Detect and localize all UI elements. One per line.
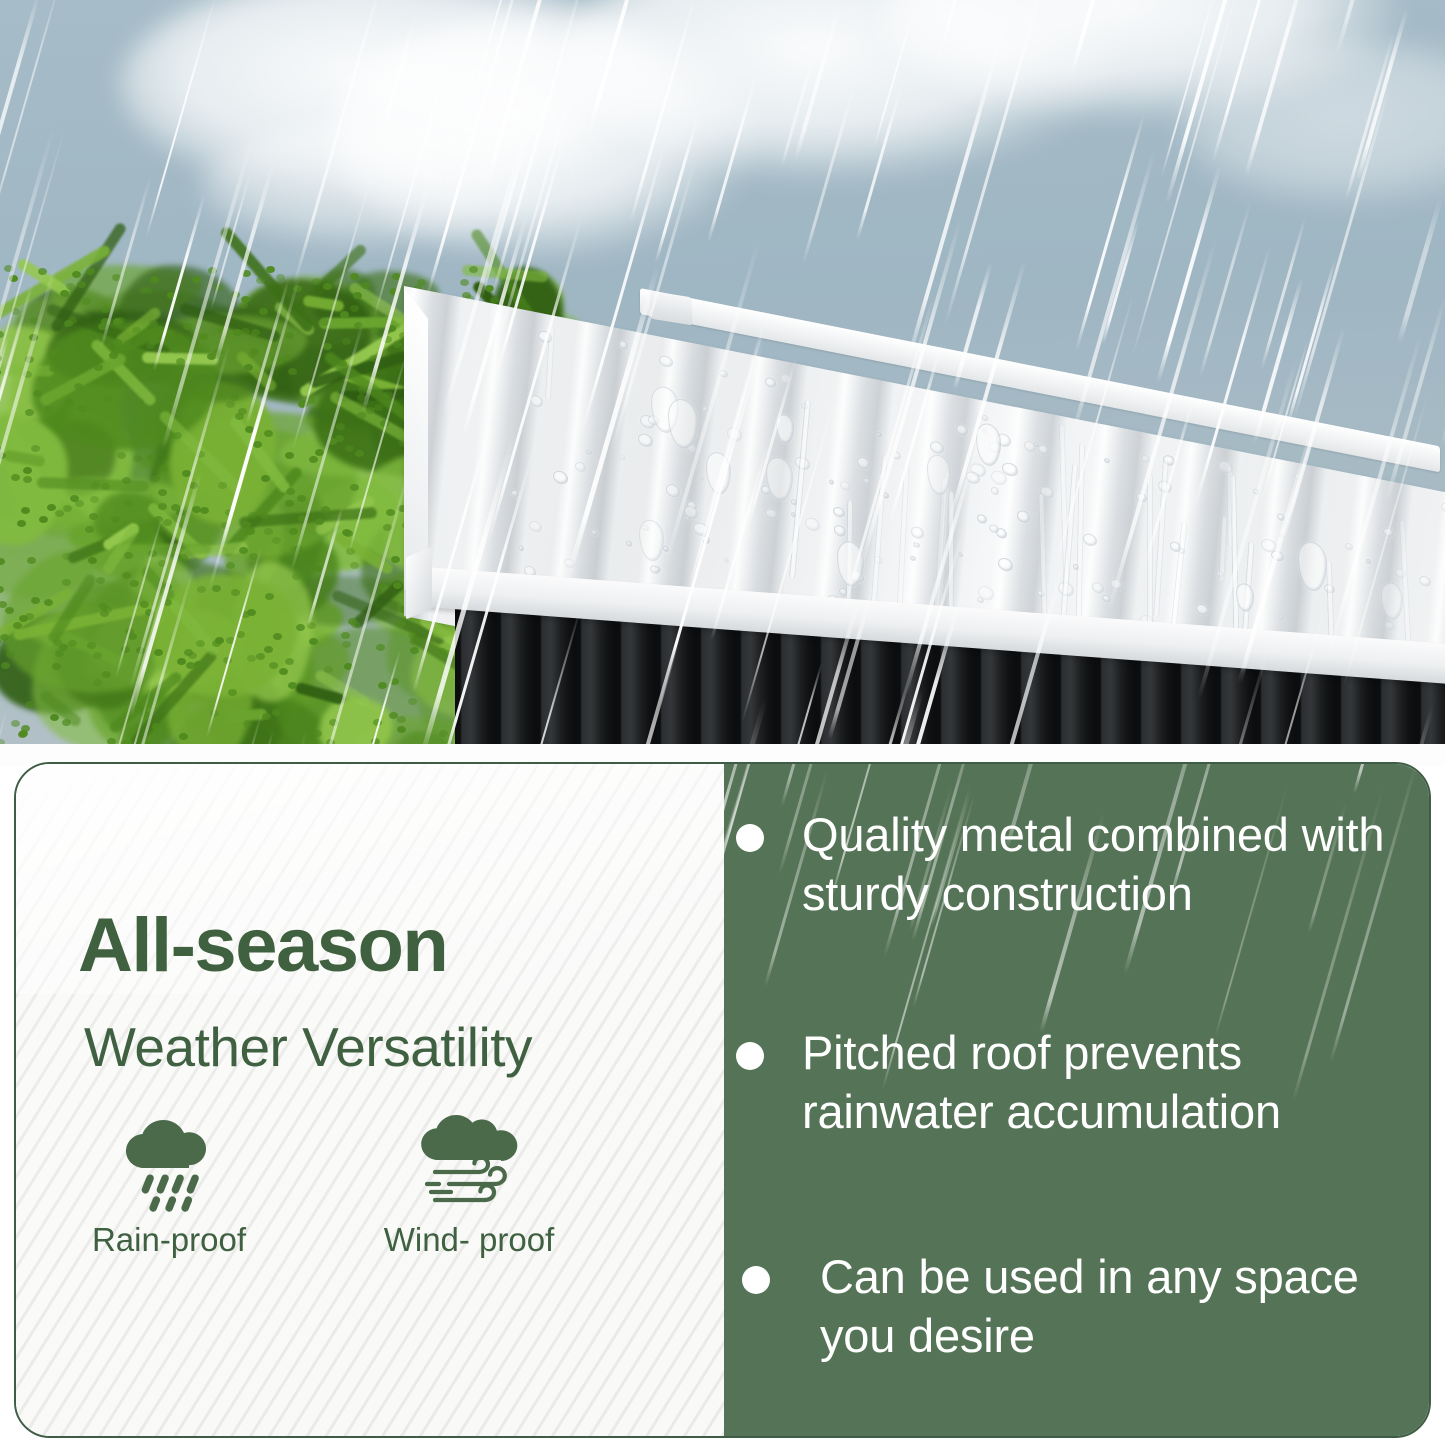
feature-rain-proof: Rain-proof (84, 1112, 254, 1287)
feature-label: Wind- proof (384, 1221, 555, 1259)
list-item: Quality metal combined with sturdy const… (736, 806, 1426, 924)
page-title: All-season (78, 908, 447, 984)
feature-icon-row: Rain-proof Wind- proof (84, 1112, 644, 1287)
roof-eave-end-cap (406, 546, 432, 619)
feature-label: Rain-proof (92, 1221, 246, 1259)
bullet-text: Pitched roof prevents rainwater accumula… (802, 1024, 1426, 1142)
shed (0, 0, 1445, 746)
bullet-text: Quality metal combined with sturdy const… (802, 806, 1426, 924)
product-photo (0, 0, 1445, 746)
wind-cloud-icon (411, 1112, 527, 1212)
bullet-text: Can be used in any space you desire (808, 1248, 1426, 1366)
feature-wind-proof: Wind- proof (384, 1112, 554, 1287)
list-item: Pitched roof prevents rainwater accumula… (736, 1024, 1426, 1142)
bullet-dot-icon (736, 824, 764, 852)
list-item: Can be used in any space you desire (736, 1248, 1426, 1366)
bullet-dot-icon (736, 1042, 764, 1070)
roof-ridge-tab (650, 290, 693, 325)
bullet-dot-icon (742, 1266, 770, 1294)
rain-cloud-icon (115, 1112, 223, 1212)
page-subtitle: Weather Versatility (84, 1020, 532, 1075)
card-left-panel (16, 764, 724, 1436)
